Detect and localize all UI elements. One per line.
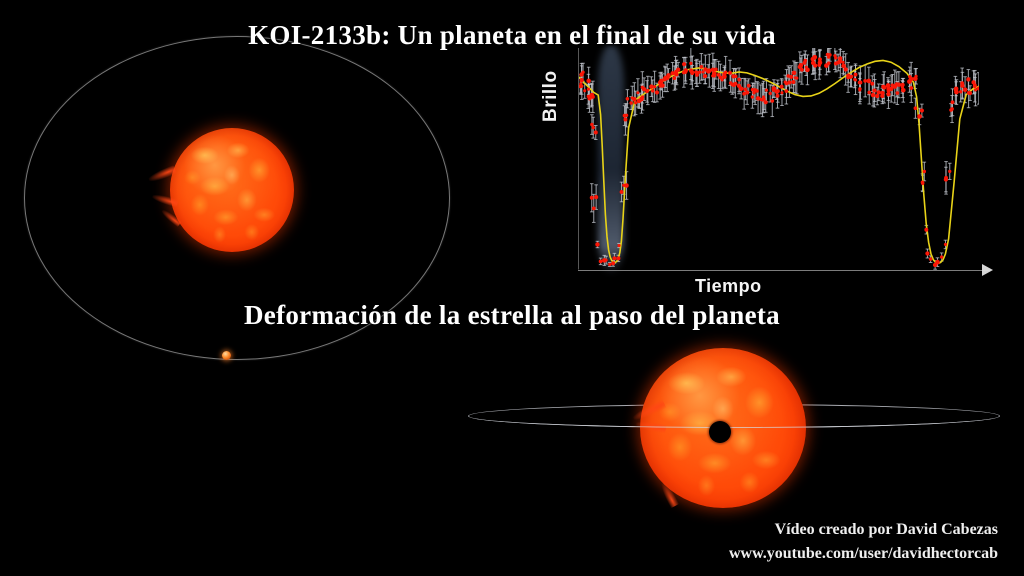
light-curve-chart: Brillo Tiempo <box>545 30 1015 305</box>
section-subtitle: Deformación de la estrella al paso del p… <box>0 300 1024 331</box>
chart-svg <box>579 48 979 270</box>
orbit-scene <box>0 0 470 400</box>
chart-x-axis-line <box>578 270 990 271</box>
chart-data-points <box>579 53 979 267</box>
star-limb-darkening <box>170 128 294 252</box>
orbiting-planet <box>222 351 231 360</box>
chart-x-axis-arrow-icon <box>982 264 993 276</box>
chart-error-bars <box>579 48 979 269</box>
credit-url: www.youtube.com/user/davidhectorcab <box>729 545 998 563</box>
deformation-scene <box>440 330 1024 540</box>
scene-canvas: Brillo Tiempo KOI-2133b: Un planeta en e… <box>0 0 1024 576</box>
chart-x-axis-label: Tiempo <box>695 276 762 297</box>
credit-author: Vídeo creado por David Cabezas <box>775 521 998 539</box>
transiting-planet-silhouette <box>709 421 731 443</box>
star-sphere <box>170 128 294 252</box>
chart-y-axis-label: Brillo <box>540 70 562 122</box>
page-title: KOI-2133b: Un planeta en el final de su … <box>0 20 1024 51</box>
edge-on-orbit-front-arc <box>468 404 1000 428</box>
chart-plot-area <box>578 48 978 270</box>
